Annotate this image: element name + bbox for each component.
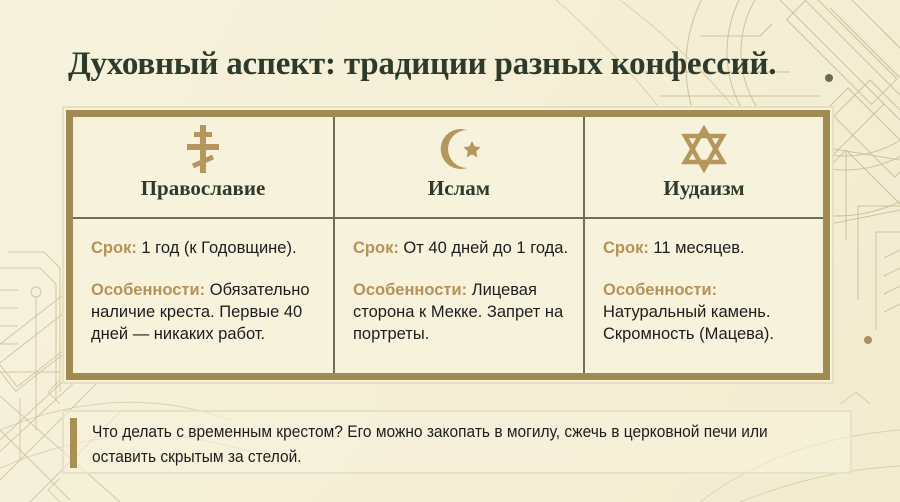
table-body-row: Срок: 1 год (к Годовщине). Особенности: … xyxy=(73,219,823,373)
star-of-david-icon xyxy=(679,123,729,175)
detail-term-value: 11 месяцев. xyxy=(649,239,745,257)
detail-features-label: Особенности: xyxy=(353,281,467,299)
detail-features: Особенности: Натуральный камень. Скромно… xyxy=(603,279,809,345)
detail-term-value: 1 год (к Годовщине). xyxy=(137,239,297,257)
page-title: Духовный аспект: традиции разных конфесс… xyxy=(68,44,868,84)
detail-term: Срок: 11 месяцев. xyxy=(603,237,809,259)
table-header-cell-orthodoxy: Православие xyxy=(73,117,333,217)
footer-accent-bar xyxy=(70,418,77,468)
table-header-row: Православие Ислам xyxy=(73,117,823,219)
detail-features-value: Натуральный камень. Скромность (Мацева). xyxy=(603,303,774,343)
table-header-cell-judaism: Иудаизм xyxy=(585,117,823,217)
detail-term: Срок: 1 год (к Годовщине). xyxy=(91,237,319,259)
table-header-label: Ислам xyxy=(428,176,490,201)
footer-note-text: Что делать с временным крестом? Его можн… xyxy=(92,418,797,470)
confession-comparison-table: Православие Ислам xyxy=(62,106,834,384)
crescent-star-icon xyxy=(434,123,484,175)
detail-term-label: Срок: xyxy=(603,239,649,257)
table-cell-orthodoxy-details: Срок: 1 год (к Годовщине). Особенности: … xyxy=(73,219,333,373)
detail-term-label: Срок: xyxy=(91,239,137,257)
table-cell-islam-details: Срок: От 40 дней до 1 года. Особенности:… xyxy=(333,219,585,373)
table-header-cell-islam: Ислам xyxy=(333,117,585,217)
slide-root: Духовный аспект: традиции разных конфесс… xyxy=(0,0,900,502)
footer-note: Что делать с временным крестом? Его можн… xyxy=(62,410,852,474)
detail-features-label: Особенности: xyxy=(91,281,205,299)
table-inner-frame: Православие Ислам xyxy=(66,110,830,380)
table-header-label: Иудаизм xyxy=(663,176,744,201)
orthodox-cross-icon xyxy=(182,123,224,175)
detail-features-label: Особенности: xyxy=(603,281,717,299)
detail-term-value: От 40 дней до 1 года. xyxy=(399,239,568,257)
detail-term: Срок: От 40 дней до 1 года. xyxy=(353,237,569,259)
detail-features: Особенности: Лицевая сторона к Мекке. За… xyxy=(353,279,569,345)
table-cell-judaism-details: Срок: 11 месяцев. Особенности: Натуральн… xyxy=(585,219,823,373)
table-header-label: Православие xyxy=(141,176,266,201)
detail-term-label: Срок: xyxy=(353,239,399,257)
detail-features: Особенности: Обязательно наличие креста.… xyxy=(91,279,319,345)
